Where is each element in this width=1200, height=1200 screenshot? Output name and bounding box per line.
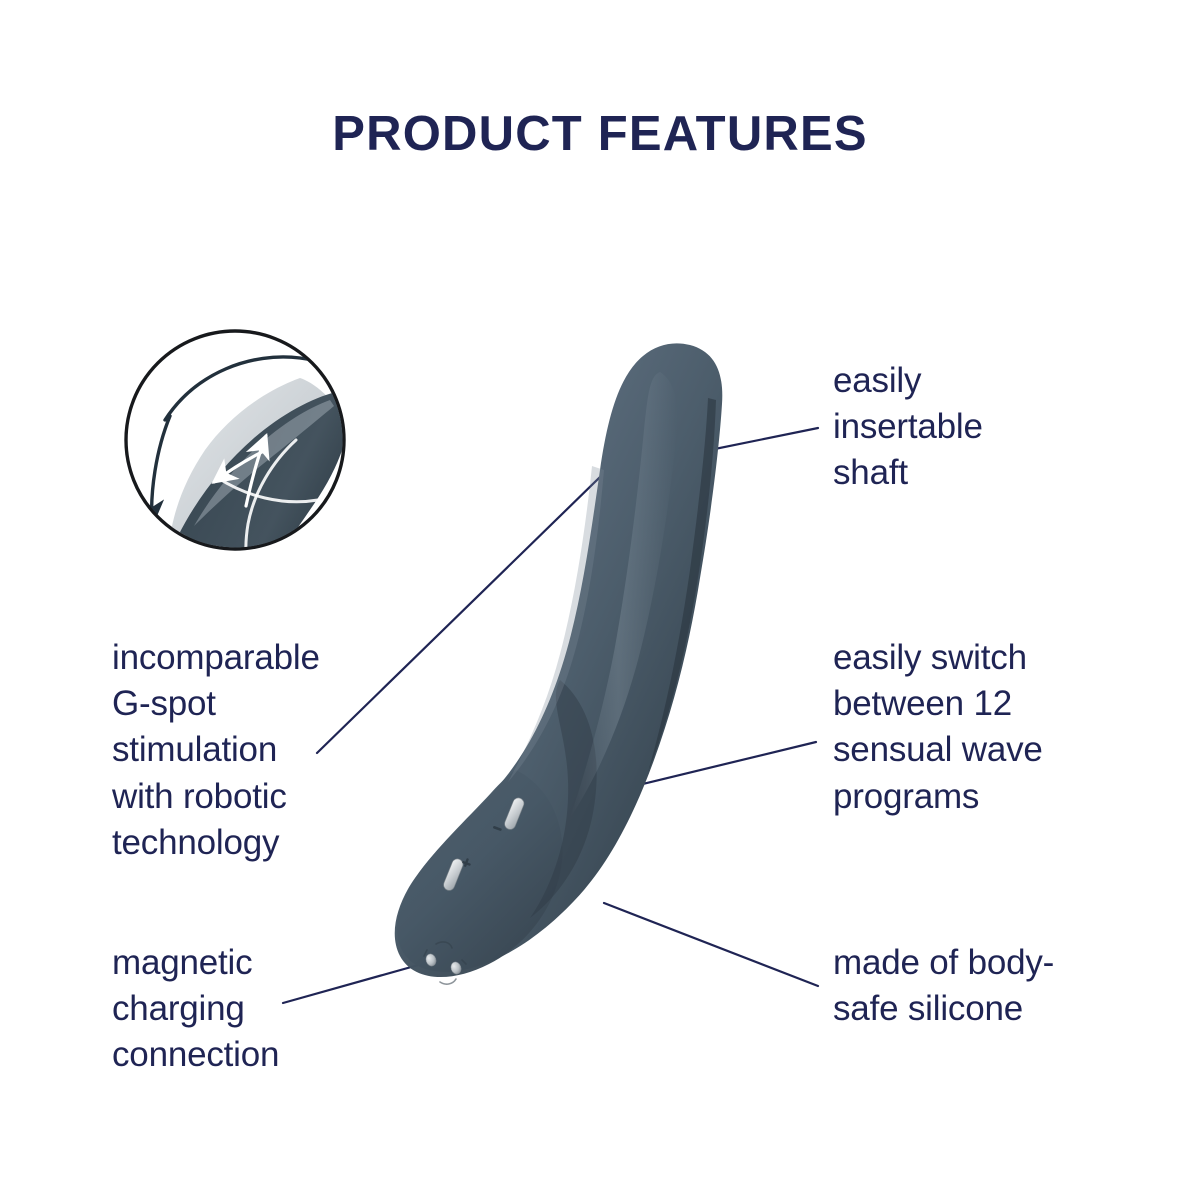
feature-label-magnetic-charging: magnetic charging connection (112, 940, 412, 1079)
feature-label-body-safe: made of body- safe silicone (833, 940, 1133, 1032)
feature-label-gspot-stimulation: incomparable G-spot stimulation with rob… (112, 635, 432, 866)
feature-label-insertable-shaft: easily insertable shaft (833, 358, 1133, 497)
product-features-infographic: PRODUCT FEATURES (0, 0, 1200, 1200)
leader-line-body-safe (604, 903, 818, 986)
product-illustration (395, 343, 723, 984)
robotic-tip-motion-inset (126, 331, 366, 624)
feature-label-switch-programs: easily switch between 12 sensual wave pr… (833, 635, 1133, 820)
